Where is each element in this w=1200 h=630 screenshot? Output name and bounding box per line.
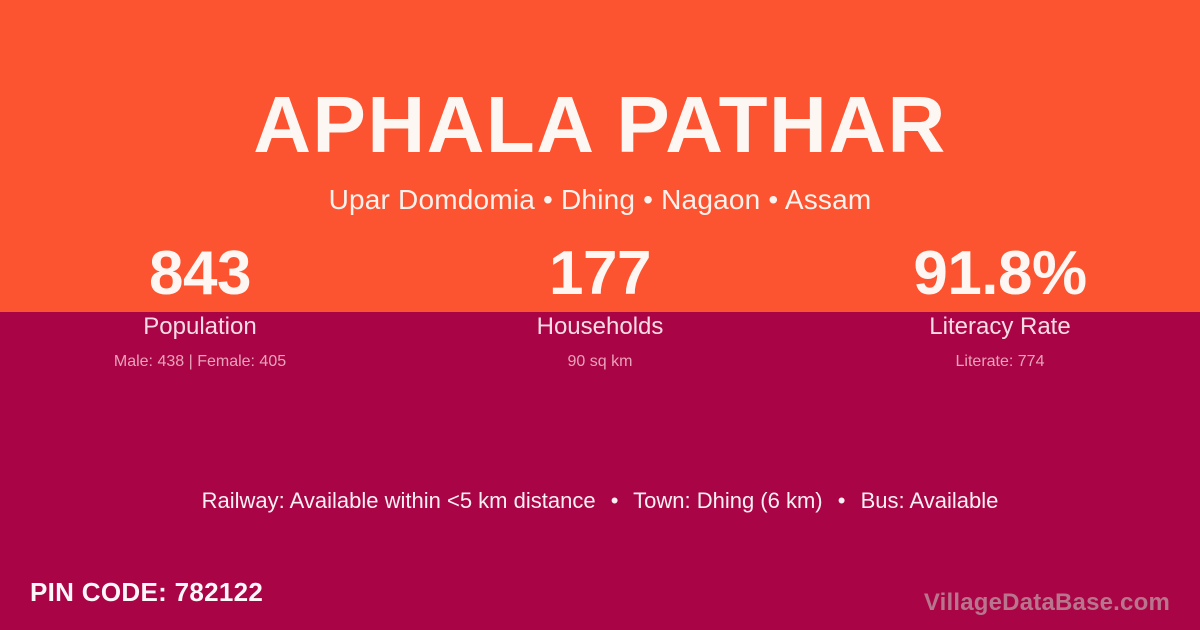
stats-row: 843 Population Male: 438 | Female: 405 1…: [0, 238, 1200, 373]
stat-households-detail: 90 sq km: [400, 351, 800, 373]
stat-population: 843 Population Male: 438 | Female: 405: [0, 238, 400, 373]
breadcrumb: Upar Domdomia • Dhing • Nagaon • Assam: [0, 182, 1200, 218]
amenity-town: Town: Dhing (6 km): [633, 488, 823, 513]
stat-literacy-rate-value: 91.8%: [800, 238, 1200, 310]
amenity-bus: Bus: Available: [861, 488, 999, 513]
stat-households: 177 Households 90 sq km: [400, 238, 800, 373]
amenity-railway: Railway: Available within <5 km distance: [202, 488, 596, 513]
stat-population-label: Population: [0, 312, 400, 342]
amenities-line: Railway: Available within <5 km distance…: [0, 487, 1200, 515]
stat-population-value: 843: [0, 238, 400, 310]
pin-code: PIN CODE: 782122: [30, 576, 263, 608]
page-title: APHALA PATHAR: [0, 79, 1200, 171]
stat-households-label: Households: [400, 312, 800, 342]
amenity-separator-1: •: [602, 488, 628, 513]
village-info-card: APHALA PATHAR Upar Domdomia • Dhing • Na…: [0, 0, 1200, 630]
stat-literacy-rate: 91.8% Literacy Rate Literate: 774: [800, 238, 1200, 373]
stat-population-detail: Male: 438 | Female: 405: [0, 351, 400, 373]
stat-literacy-rate-detail: Literate: 774: [800, 351, 1200, 373]
stat-households-value: 177: [400, 238, 800, 310]
amenity-separator-2: •: [829, 488, 855, 513]
stat-literacy-rate-label: Literacy Rate: [800, 312, 1200, 342]
site-brand: VillageDataBase.com: [924, 588, 1170, 618]
